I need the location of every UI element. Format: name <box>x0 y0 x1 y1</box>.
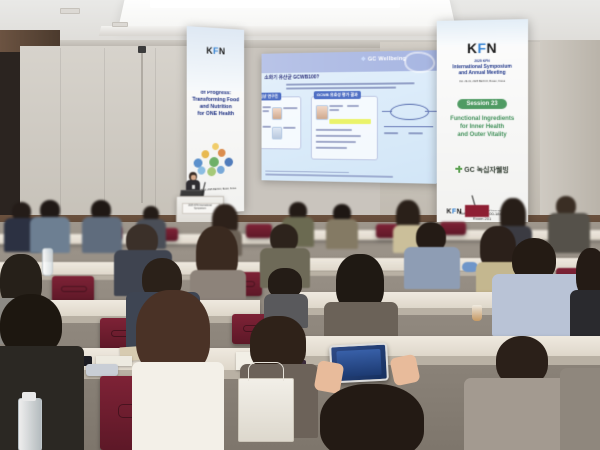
banner-left-title3: Transforming Food <box>187 96 244 104</box>
ceiling-rim <box>99 26 481 36</box>
gc-mark-icon: ✥ <box>361 57 366 63</box>
chair <box>246 224 272 238</box>
paper-tote-bag <box>238 378 294 442</box>
gc-wellbeing-logo: ✥GC Wellbeing <box>361 56 406 63</box>
slide-icon-figure <box>316 105 329 120</box>
gc-cross-icon <box>456 166 463 173</box>
banner-right-sub3: and Annual Meeting <box>437 70 528 77</box>
session-badge-wrap: Session 23 <box>437 91 528 109</box>
ceiling-vent <box>112 22 128 27</box>
water-bottle <box>18 398 42 450</box>
slide-card-middle: GCWB 유효성 평가 결과 <box>311 96 378 161</box>
slide-card-middle-label: GCWB 유효성 평가 결과 <box>314 91 361 99</box>
banner-left-title5: for ONE Health <box>187 110 244 117</box>
session-badge: Session 23 <box>458 98 507 108</box>
banner-left-top-graphic <box>187 26 244 91</box>
slide-highlight <box>329 119 371 124</box>
hand-right <box>389 354 420 387</box>
water-bottle <box>42 248 53 276</box>
slide-title: 소화기 유산균 GCWB100? <box>264 73 319 81</box>
projector-cable <box>141 53 143 203</box>
slide-footer-note <box>265 170 431 180</box>
wall-seam <box>60 48 61 234</box>
speaker-badge <box>192 185 195 189</box>
session-title-2: for Inner Health <box>437 123 528 131</box>
projection-screen: ✥GC Wellbeing 소화기 유산균 GCWB100? 임상 연구진 GC… <box>262 50 440 184</box>
presentation-slide: ✥GC Wellbeing 소화기 유산균 GCWB100? 임상 연구진 GC… <box>262 50 440 184</box>
slide-avatar <box>272 107 282 120</box>
sponsor-logo: GC 녹십자웰빙 <box>437 164 528 175</box>
banner-right: KFN 2025 KFN International Symposium and… <box>437 19 528 226</box>
kfn-logo: KFN <box>437 39 528 56</box>
slide-avatar <box>272 127 282 140</box>
podium-plate-text-1: 2025 KFN International Symposium <box>183 205 217 211</box>
banner-right-date: Oct. 29-31, 2025 BEXCO, Busan, Korea <box>437 79 528 83</box>
projector-mount <box>138 46 146 53</box>
slide-card-left-label: 임상 연구진 <box>262 93 281 101</box>
chair <box>52 276 94 302</box>
iced-coffee-cup <box>472 305 482 321</box>
slide-header-bar <box>262 50 440 73</box>
conference-photo: ✥GC Wellbeing 소화기 유산균 GCWB100? 임상 연구진 GC… <box>0 0 600 450</box>
tablet-screen <box>336 349 381 377</box>
kfn-footer-logo: KFN <box>447 208 463 215</box>
front-seat-back <box>465 205 489 217</box>
ceiling-light-inner <box>150 0 400 8</box>
slide-card-left: 임상 연구진 <box>262 96 302 149</box>
session-title-3: and Outer Vitality <box>437 131 528 139</box>
bag-handle <box>248 362 284 381</box>
ceiling-vent <box>60 8 80 14</box>
bottle-cap <box>22 392 36 401</box>
eyeglasses-case <box>86 364 118 376</box>
session-title-1: Functional Ingredients <box>437 114 528 122</box>
